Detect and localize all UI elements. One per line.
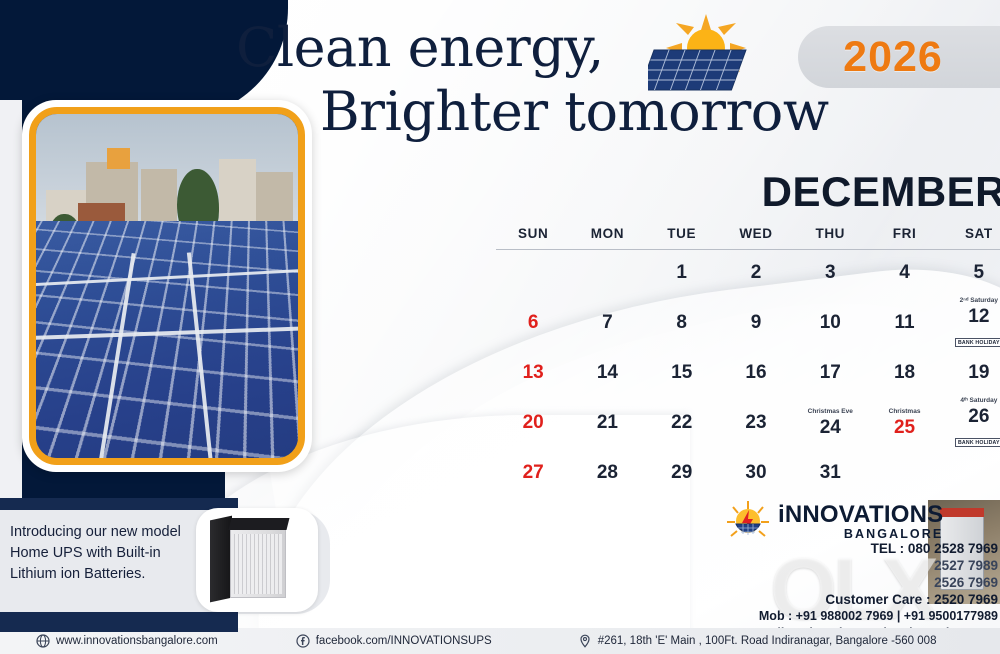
sun-solar-panel-icon: [648, 14, 768, 100]
calendar-day-15[interactable]: 15: [645, 350, 719, 397]
ups-vent-grille: [234, 534, 282, 594]
contact-mobile: Mob : +91 988002 7969 | +91 9500177989: [751, 608, 998, 625]
footer-address: #261, 18th 'E' Main , 100Ft. Road Indira…: [578, 634, 937, 648]
calendar-day-25[interactable]: Christmas25: [867, 397, 941, 450]
calendar-day-number: 5: [974, 262, 985, 283]
calendar-day-note: Christmas Eve: [793, 408, 867, 416]
calendar-weekday-sat: SAT: [942, 226, 1000, 250]
calendar-day-badge: BANK HOLIDAY: [955, 338, 1000, 347]
ups-top-panel: [229, 518, 290, 530]
calendar-day-12[interactable]: 2ⁿᵈ Saturday12BANK HOLIDAY: [942, 297, 1000, 350]
contact-tel: TEL : 080 2528 7969: [751, 540, 998, 557]
calendar-day-number: 1: [676, 262, 687, 283]
calendar-day-31[interactable]: 31: [793, 450, 867, 497]
calendar-day-5[interactable]: 5: [942, 250, 1000, 297]
footer-bar: www.innovationsbangalore.com facebook.co…: [0, 628, 1000, 654]
calendar-day-empty: [867, 450, 941, 497]
calendar-day-empty: [942, 450, 1000, 497]
calendar-day-number: 17: [820, 362, 841, 383]
contact-block: TEL : 080 2528 7969 2527 7989 2526 7969 …: [751, 540, 998, 642]
calendar-weekday-fri: FRI: [867, 226, 941, 250]
left-white-notch: [0, 100, 22, 520]
footer-facebook[interactable]: facebook.com/INNOVATIONSUPS: [296, 634, 492, 648]
calendar-day-20[interactable]: 20: [496, 397, 570, 450]
month-title: DECEMBER: [762, 168, 1000, 216]
calendar-day-number: 26: [968, 406, 989, 427]
calendar-day-3[interactable]: 3: [793, 250, 867, 297]
product-label: [940, 508, 984, 517]
calendar-weekday-thu: THU: [793, 226, 867, 250]
calendar-day-number: 4: [899, 262, 910, 283]
year-badge: 2026: [798, 26, 1000, 88]
calendar-day-number: 9: [751, 312, 762, 333]
contact-tel-2: 2527 7989: [751, 557, 998, 574]
calendar-day-number: 22: [671, 412, 692, 433]
footer-website-label: www.innovationsbangalore.com: [56, 635, 218, 647]
ups-product-image: [196, 508, 318, 612]
footer-address-label: #261, 18th 'E' Main , 100Ft. Road Indira…: [598, 635, 937, 647]
calendar-day-number: 2: [751, 262, 762, 283]
calendar-day-number: 25: [894, 417, 915, 438]
calendar-day-2[interactable]: 2: [719, 250, 793, 297]
calendar-day-empty: [496, 250, 570, 297]
calendar-day-note: 4ᵗʰ Saturday: [942, 397, 1000, 405]
calendar-day-1[interactable]: 1: [645, 250, 719, 297]
solar-photo: [29, 107, 305, 465]
calendar-day-number: 6: [528, 312, 539, 333]
calendar-day-30[interactable]: 30: [719, 450, 793, 497]
footer-navy-cap: [0, 624, 238, 632]
calendar-day-badge: BANK HOLIDAY: [955, 438, 1000, 447]
calendar-day-7[interactable]: 7: [570, 297, 644, 350]
calendar-day-29[interactable]: 29: [645, 450, 719, 497]
innovations-logo-icon: [726, 500, 770, 544]
calendar-day-number: 29: [671, 462, 692, 483]
brand-sub: BANGALORE: [778, 527, 943, 541]
calendar-day-17[interactable]: 17: [793, 350, 867, 397]
calendar-weekday-mon: MON: [570, 226, 644, 250]
calendar-day-22[interactable]: 22: [645, 397, 719, 450]
calendar-day-number: 31: [820, 462, 841, 483]
calendar-day-number: 7: [602, 312, 613, 333]
calendar-day-number: 3: [825, 262, 836, 283]
calendar-weekday-sun: SUN: [496, 226, 570, 250]
calendar-day-number: 14: [597, 362, 618, 383]
calendar-day-13[interactable]: 13: [496, 350, 570, 397]
solar-photo-frame: [22, 100, 312, 472]
calendar-day-11[interactable]: 11: [867, 297, 941, 350]
promo-text: Introducing our new model Home UPS with …: [10, 522, 200, 585]
calendar-day-24[interactable]: Christmas Eve24: [793, 397, 867, 450]
calendar-day-number: 19: [968, 362, 989, 383]
calendar-day-number: 15: [671, 362, 692, 383]
brand-name: iNNOVATIONS: [778, 503, 943, 527]
calendar-day-empty: [570, 250, 644, 297]
calendar-day-number: 23: [745, 412, 766, 433]
calendar-day-9[interactable]: 9: [719, 297, 793, 350]
calendar-day-28[interactable]: 28: [570, 450, 644, 497]
calendar-day-number: 12: [968, 306, 989, 327]
globe-icon: [36, 634, 50, 648]
calendar-day-number: 21: [597, 412, 618, 433]
location-pin-icon: [578, 634, 592, 648]
calendar-day-number: 16: [745, 362, 766, 383]
calendar-day-number: 13: [523, 362, 544, 383]
calendar-day-4[interactable]: 4: [867, 250, 941, 297]
contact-customer-care: Customer Care : 2520 7969: [751, 591, 998, 608]
calendar-day-number: 24: [820, 417, 841, 438]
calendar-day-14[interactable]: 14: [570, 350, 644, 397]
calendar-day-26[interactable]: 4ᵗʰ Saturday26BANK HOLIDAY: [942, 397, 1000, 450]
calendar-day-number: 28: [597, 462, 618, 483]
calendar-day-6[interactable]: 6: [496, 297, 570, 350]
calendar-day-note: 2ⁿᵈ Saturday: [942, 297, 1000, 305]
calendar-day-10[interactable]: 10: [793, 297, 867, 350]
year-value: 2026: [843, 33, 983, 82]
calendar-day-number: 20: [523, 412, 544, 433]
calendar-day-8[interactable]: 8: [645, 297, 719, 350]
calendar-day-number: 8: [676, 312, 687, 333]
facebook-icon: [296, 634, 310, 648]
calendar-week-row: 12345: [496, 250, 1000, 297]
calendar-weekday-wed: WED: [719, 226, 793, 250]
brand-block: iNNOVATIONS BANGALORE: [726, 500, 943, 544]
calendar-day-number: 30: [745, 462, 766, 483]
photo-building-accent: [107, 148, 131, 169]
calendar-day-18[interactable]: 18: [867, 350, 941, 397]
calendar-grid: SUNMONTUEWEDTHUFRISAT 12345678910112ⁿᵈ S…: [496, 226, 1000, 497]
poster-canvas: Clean energy, Brighter tomorrow: [0, 0, 1000, 654]
calendar-weekday-header: SUNMONTUEWEDTHUFRISAT: [496, 226, 1000, 250]
calendar-day-number: 10: [820, 312, 841, 333]
calendar-day-number: 27: [523, 462, 544, 483]
calendar-weekday-tue: TUE: [645, 226, 719, 250]
photo-solar-array: [29, 221, 305, 465]
calendar-week-row: 20212223Christmas Eve24Christmas254ᵗʰ Sa…: [496, 397, 1000, 450]
footer-facebook-label: facebook.com/INNOVATIONSUPS: [316, 635, 492, 647]
calendar-day-21[interactable]: 21: [570, 397, 644, 450]
calendar-day-27[interactable]: 27: [496, 450, 570, 497]
calendar-day-number: 11: [895, 312, 915, 333]
calendar-day-note: Christmas: [867, 408, 941, 416]
calendar-week-row: 2728293031: [496, 450, 1000, 497]
calendar-week-row: 678910112ⁿᵈ Saturday12BANK HOLIDAY: [496, 297, 1000, 350]
footer-website[interactable]: www.innovationsbangalore.com: [36, 634, 218, 648]
calendar-day-23[interactable]: 23: [719, 397, 793, 450]
calendar-week-row: 13141516171819: [496, 350, 1000, 397]
calendar-body: 12345678910112ⁿᵈ Saturday12BANK HOLIDAY1…: [496, 250, 1000, 497]
brand-row: iNNOVATIONS BANGALORE: [726, 500, 943, 544]
calendar-day-16[interactable]: 16: [719, 350, 793, 397]
calendar-day-19[interactable]: 19: [942, 350, 1000, 397]
contact-tel-3: 2526 7969: [751, 574, 998, 591]
calendar-day-number: 18: [894, 362, 915, 383]
